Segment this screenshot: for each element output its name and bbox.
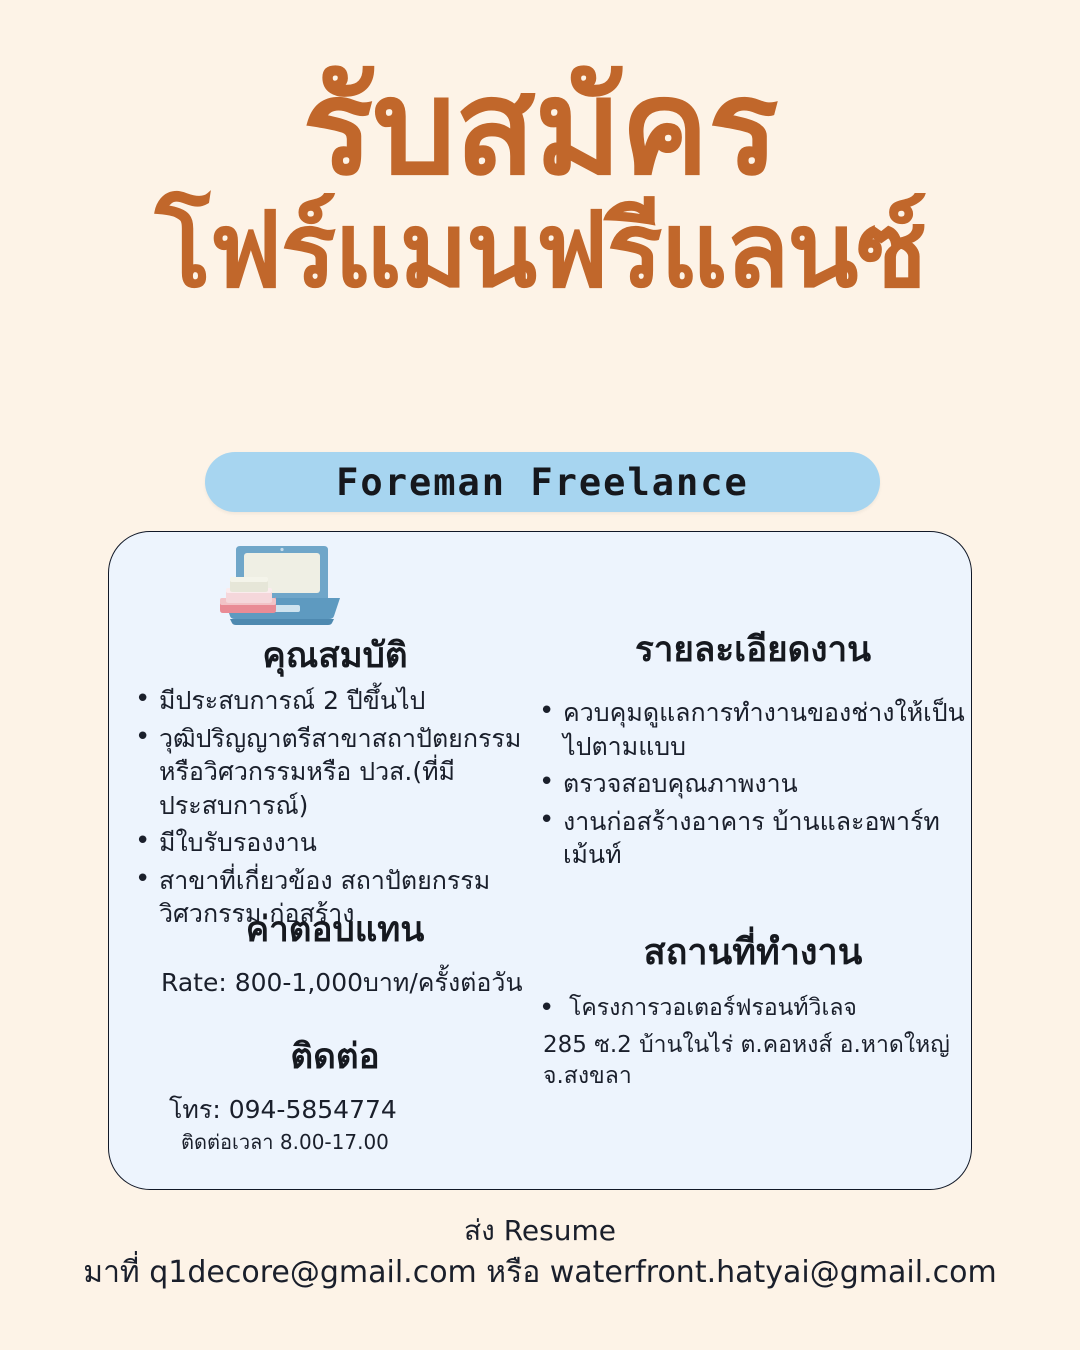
contact-title: ติดต่อ [125,1037,545,1077]
duties-title: รายละเอียดงาน [529,630,977,670]
compensation-rate: Rate: 800-1,000บาท/ครั้งต่อวัน [125,966,545,1000]
compensation-section: ค่าตอบแทน Rate: 800-1,000บาท/ครั้งต่อวัน [125,910,545,1000]
list-item: งานก่อสร้างอาคาร บ้านและอพาร์ทเม้นท์ [529,805,977,872]
headline-line-1: รับสมัคร [0,62,1080,194]
location-address-line-1: 285 ซ.2 บ้านในไร่ ต.คอหงส์ อ.หาดใหญ่ [529,1030,977,1061]
list-item: มีใบรับรองงาน [125,826,545,860]
list-item: ควบคุมดูแลการทำงานของช่างให้เป็นไปตามแบบ [529,696,977,763]
laptop-and-books-icon [206,536,356,636]
contact-section: ติดต่อ โทร: 094-5854774 ติดต่อเวลา 8.00-… [125,1037,545,1155]
poster-headline: รับสมัคร [0,62,1080,194]
location-section: สถานที่ทำงาน โครงการวอเตอร์ฟรอนท์วิเลจ 2… [529,932,977,1092]
duties-section: รายละเอียดงาน ควบคุมดูแลการทำงานของช่างใ… [529,630,977,876]
location-address-line-2: จ.สงขลา [529,1061,977,1092]
location-list: โครงการวอเตอร์ฟรอนท์วิเลจ [529,993,977,1024]
details-card: คุณสมบัติ มีประสบการณ์ 2 ปีขึ้นไป วุฒิปร… [108,531,972,1190]
contact-phone: โทร: 094-5854774 [125,1093,545,1127]
resume-footer: ส่ง Resume มาที่ q1decore@gmail.com หรือ… [0,1212,1080,1294]
location-title: สถานที่ทำงาน [529,932,977,973]
footer-line-2: มาที่ q1decore@gmail.com หรือ waterfront… [0,1252,1080,1294]
list-item: ตรวจสอบคุณภาพงาน [529,767,977,801]
headline-line-2: โฟร์แมนฟรีแลนซ์ [0,198,1080,302]
duties-list: ควบคุมดูแลการทำงานของช่างให้เป็นไปตามแบบ… [529,696,977,872]
job-poster: รับสมัคร โฟร์แมนฟรีแลนซ์ Foreman Freelan… [0,0,1080,1350]
contact-hours: ติดต่อเวลา 8.00-17.00 [125,1129,545,1155]
job-title-badge: Foreman Freelance [205,452,880,512]
job-title-badge-label: Foreman Freelance [336,461,749,504]
footer-line-1: ส่ง Resume [0,1212,1080,1250]
qualifications-list: มีประสบการณ์ 2 ปีขึ้นไป วุฒิปริญญาตรีสาข… [125,684,545,931]
list-item: วุฒิปริญญาตรีสาขาสถาปัตยกรรม หรือวิศวกรร… [125,722,545,823]
qualifications-section: คุณสมบัติ มีประสบการณ์ 2 ปีขึ้นไป วุฒิปร… [125,636,545,935]
list-item: โครงการวอเตอร์ฟรอนท์วิเลจ [529,993,977,1024]
qualifications-title: คุณสมบัติ [125,636,545,676]
compensation-title: ค่าตอบแทน [125,910,545,950]
list-item: มีประสบการณ์ 2 ปีขึ้นไป [125,684,545,718]
